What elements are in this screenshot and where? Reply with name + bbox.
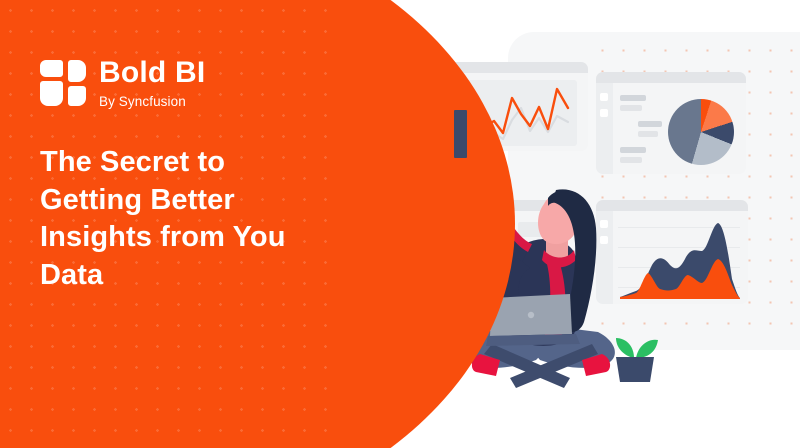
bar-navy [454, 110, 467, 158]
bar-pair-group [436, 110, 470, 158]
bold-bi-grid-logo-icon [40, 60, 86, 106]
pie-chart-card [596, 72, 746, 174]
brand-text: Bold BI By Syncfusion [99, 58, 205, 109]
plant-pot [616, 357, 654, 382]
brand-tagline: By Syncfusion [99, 95, 205, 109]
legend-placeholder-line [620, 147, 646, 153]
laptop-base [486, 334, 580, 346]
legend-placeholder-line [620, 95, 646, 101]
card-body [596, 83, 746, 174]
plant-leaf-right [636, 340, 658, 358]
legend-placeholder-line [638, 121, 662, 127]
bar-orange [436, 126, 448, 158]
logo-tile-bottom-left [40, 81, 63, 106]
logo-tile-top-right [68, 60, 86, 82]
card-side-rail [596, 83, 613, 174]
logo-tile-top-left [40, 60, 63, 77]
brand-logo[interactable]: Bold BI By Syncfusion [40, 58, 205, 109]
legend-placeholder-line [620, 105, 642, 111]
laptop-logo-icon [528, 312, 534, 318]
plant-illustration [606, 330, 664, 386]
brand-name: Bold BI [99, 58, 205, 88]
pie-chart [668, 99, 734, 165]
logo-tile-bottom-right [68, 86, 86, 106]
plant-leaf-left [616, 338, 634, 358]
area-chart-svg [618, 217, 742, 301]
legend-placeholder-line [638, 131, 658, 137]
rail-square-icon [600, 93, 608, 101]
hero-headline: The Secret to Getting Better Insights fr… [40, 144, 310, 295]
legend-placeholder-line [620, 157, 642, 163]
hero-banner: Bold BI By Syncfusion The Secret to Gett… [0, 0, 800, 448]
rail-square-icon [600, 109, 608, 117]
card-header-bar [596, 72, 746, 83]
